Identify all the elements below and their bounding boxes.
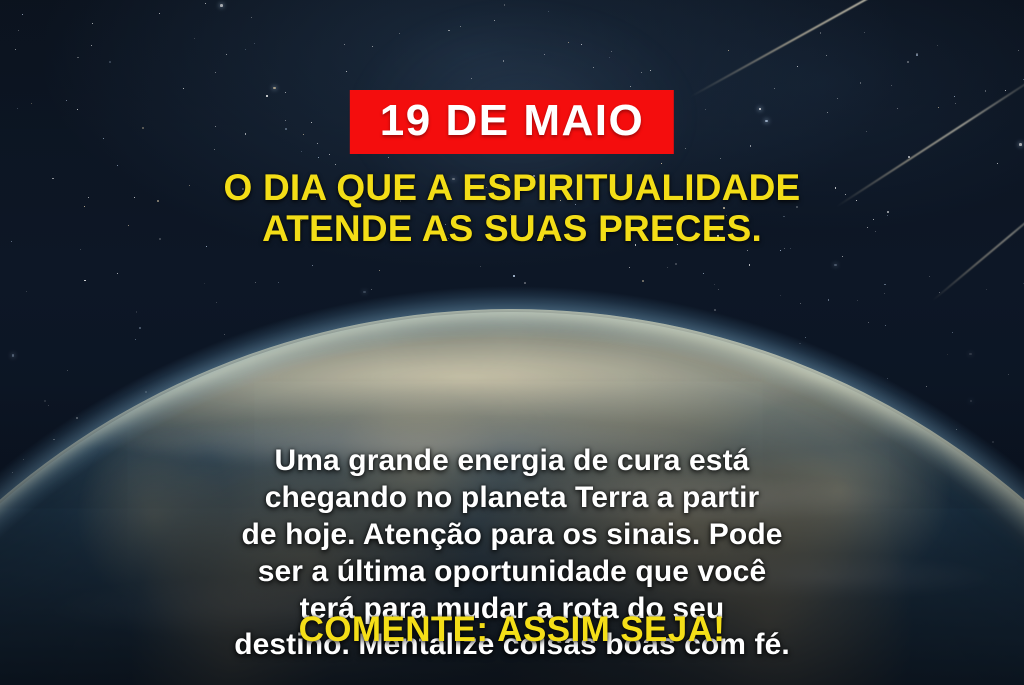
body-line-3: de hoje. Atenção para os sinais. Pode — [30, 517, 994, 554]
headline-line-2: ATENDE AS SUAS PRECES. — [40, 209, 984, 250]
call-to-action-text: COMENTE: ASSIM SEJA! — [0, 612, 1024, 647]
body-line-2: chegando no planeta Terra a partir — [30, 480, 994, 517]
headline-line-1: O DIA QUE A ESPIRITUALIDADE — [40, 168, 984, 209]
body-line-1: Uma grande energia de cura está — [30, 443, 994, 480]
headline: O DIA QUE A ESPIRITUALIDADE ATENDE AS SU… — [0, 168, 1024, 249]
poster-content: 19 DE MAIO O DIA QUE A ESPIRITUALIDADE A… — [0, 0, 1024, 685]
body-line-4: ser a última oportunidade que você — [30, 554, 994, 591]
poster-image: 19 DE MAIO O DIA QUE A ESPIRITUALIDADE A… — [0, 0, 1024, 685]
date-badge: 19 DE MAIO — [350, 90, 674, 154]
